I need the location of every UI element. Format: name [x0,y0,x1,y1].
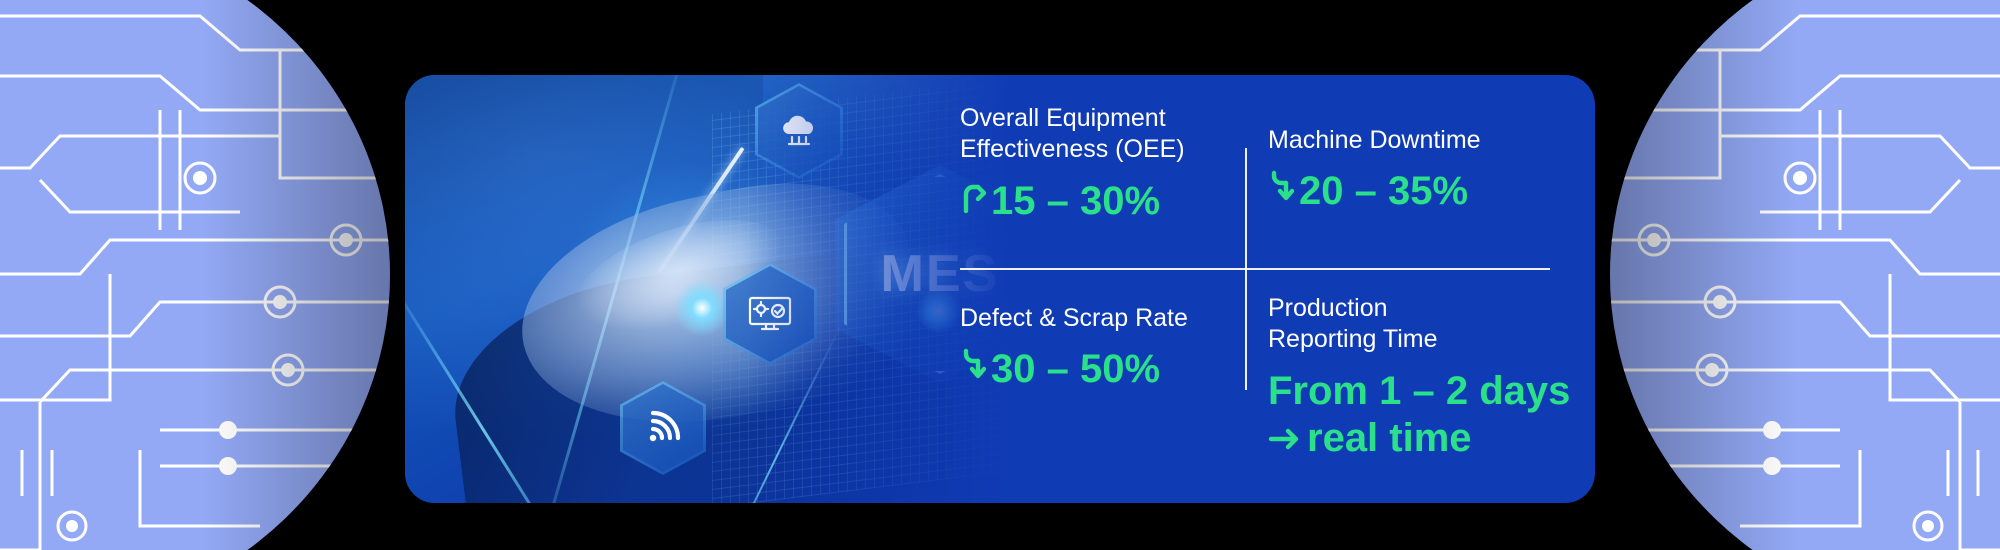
stat-defect-scrap-rate-value-row: 30 – 50% [960,346,1228,393]
stat-production-reporting-time-value-row: From 1 – 2 days real time [1268,368,1578,462]
stat-production-reporting-time-label: Production Reporting Time [1268,293,1578,356]
value-line-2: real time [1268,415,1578,462]
blob-right-fade [1610,0,2000,550]
mes-benefits-card: MES Overall Equipment Effectiveness (OEE… [405,75,1595,503]
circuit-pattern-right [1610,0,2000,550]
circuit-pattern-left [0,0,390,550]
stat-machine-downtime-value: 20 – 35% [1299,168,1468,215]
screenshot-canvas: MES Overall Equipment Effectiveness (OEE… [0,0,2000,550]
stat-defect-scrap-rate: Defect & Scrap Rate 30 – 50% [960,303,1228,393]
stat-oee-value-row: 15 – 30% [960,178,1228,225]
value-line-1: From 1 – 2 days [1268,368,1578,415]
stat-production-reporting-time-value-line1: From 1 – 2 days [1268,368,1570,415]
stat-production-reporting-time-value-line2: real time [1307,415,1472,462]
divider-horizontal [960,268,1550,270]
stat-machine-downtime-label: Machine Downtime [1268,125,1568,156]
arrow-right-icon [1268,415,1300,462]
blob-left-fade [0,0,390,550]
stats-grid: Overall Equipment Effectiveness (OEE) 15… [960,75,1595,503]
stat-machine-downtime-value-row: 20 – 35% [1268,168,1568,215]
stat-production-reporting-time: Production Reporting Time From 1 – 2 day… [1268,293,1578,462]
stat-oee: Overall Equipment Effectiveness (OEE) 15… [960,103,1228,225]
stat-defect-scrap-rate-label: Defect & Scrap Rate [960,303,1228,334]
stat-machine-downtime: Machine Downtime 20 – 35% [1268,125,1568,215]
stat-defect-scrap-rate-value: 30 – 50% [991,346,1160,393]
arrow-down-icon [960,346,986,393]
stat-oee-value: 15 – 30% [991,178,1160,225]
touch-glow [674,280,730,336]
card-photo: MES [405,75,1045,503]
arrow-up-icon [960,178,986,225]
stat-oee-label: Overall Equipment Effectiveness (OEE) [960,103,1228,166]
arrow-down-icon [1268,168,1294,215]
